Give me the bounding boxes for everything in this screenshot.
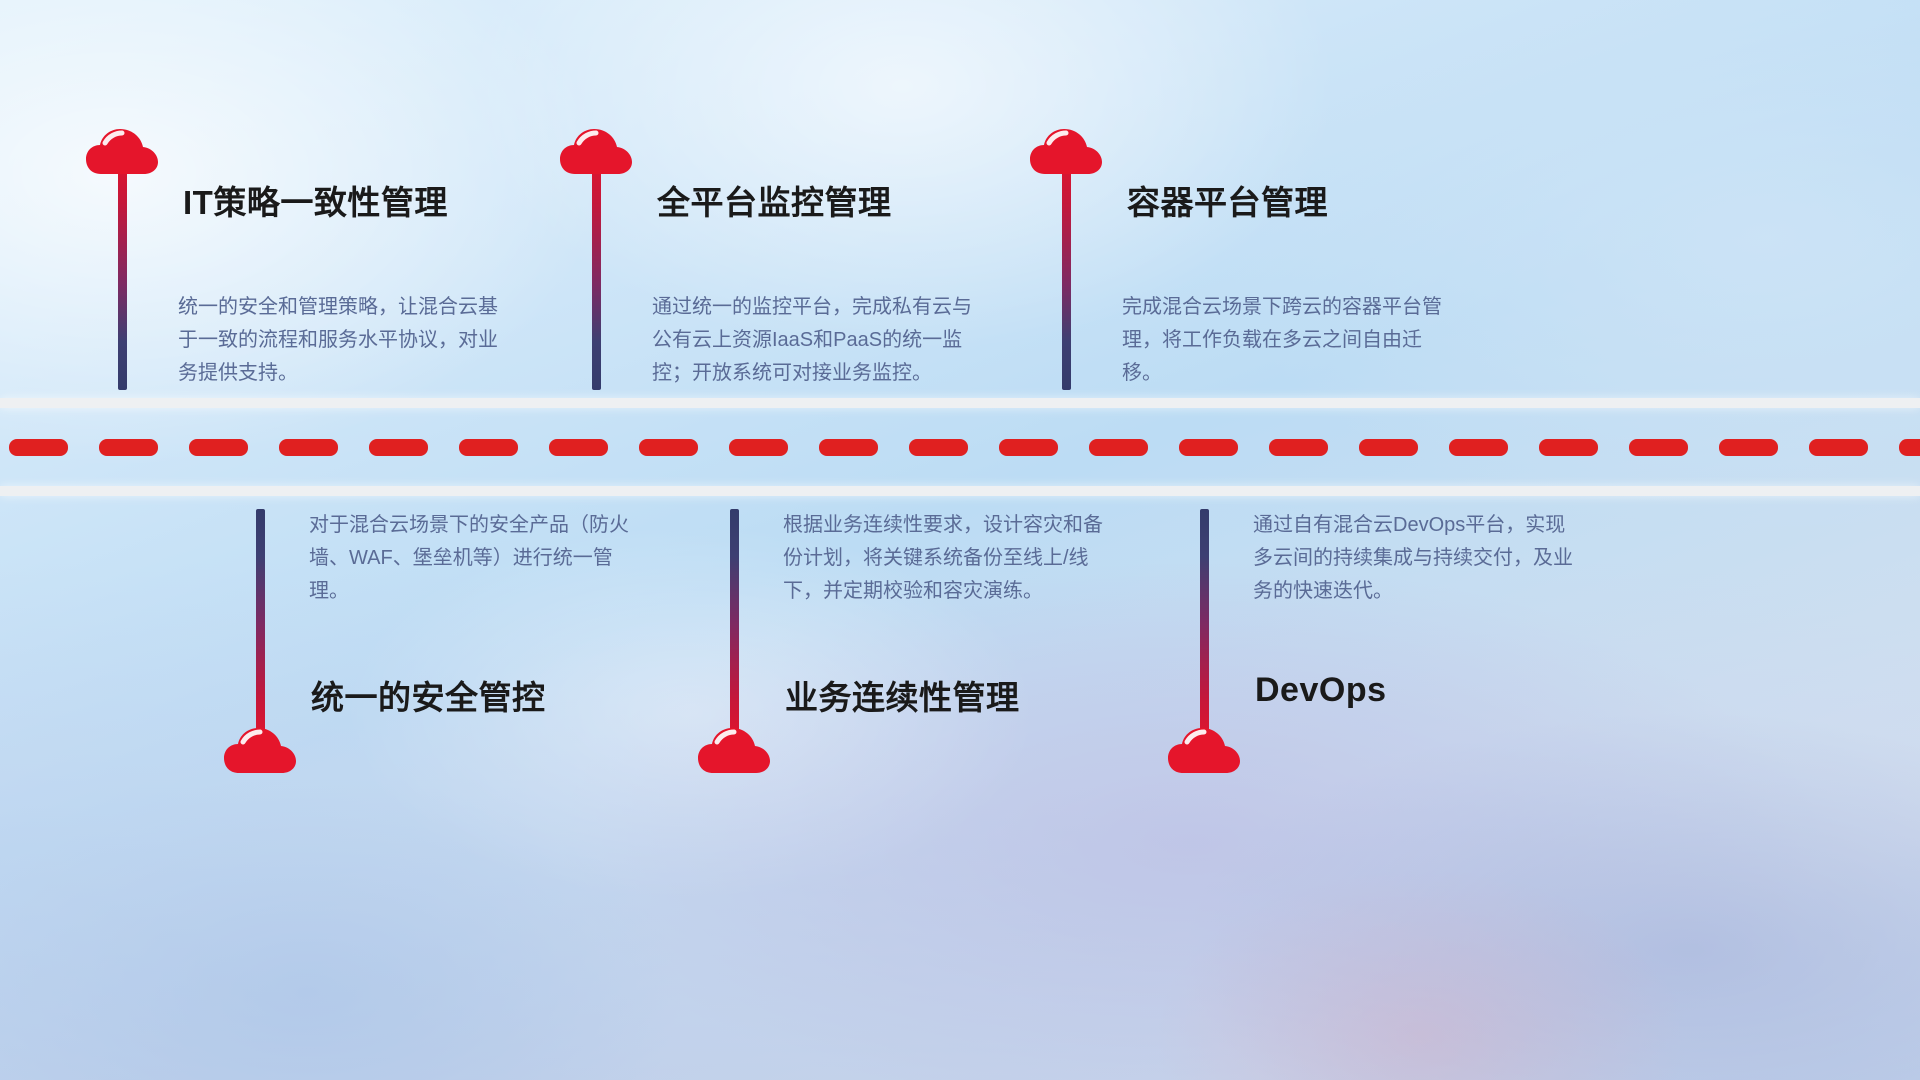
cloud-icon bbox=[697, 727, 771, 775]
road-dash-line bbox=[0, 438, 1920, 456]
road-dash bbox=[189, 439, 248, 456]
stem-connector bbox=[256, 509, 265, 746]
feature-description: 完成混合云场景下跨云的容器平台管理，将工作负载在多云之间自由迁移。 bbox=[1122, 291, 1452, 390]
road-dash bbox=[729, 439, 788, 456]
road-edge-bottom bbox=[0, 486, 1920, 496]
road-dash bbox=[279, 439, 338, 456]
cloud-icon bbox=[223, 727, 297, 775]
cloud-icon bbox=[85, 128, 159, 176]
road-dash bbox=[1089, 439, 1148, 456]
feature-title: DevOps bbox=[1255, 671, 1387, 710]
feature-description: 根据业务连续性要求，设计容灾和备份计划，将关键系统备份至线上/线下，并定期校验和… bbox=[783, 509, 1113, 608]
road-divider bbox=[0, 398, 1920, 496]
feature-title: 全平台监控管理 bbox=[657, 176, 892, 224]
feature-description: 通过自有混合云DevOps平台，实现多云间的持续集成与持续交付，及业务的快速迭代… bbox=[1253, 509, 1583, 608]
road-dash bbox=[1449, 439, 1508, 456]
road-dash bbox=[1719, 439, 1778, 456]
road-dash bbox=[909, 439, 968, 456]
feature-description: 统一的安全和管理策略，让混合云基于一致的流程和服务水平协议，对业务提供支持。 bbox=[178, 291, 508, 390]
road-dash bbox=[549, 439, 608, 456]
cloud-icon bbox=[559, 128, 633, 176]
stem-connector bbox=[592, 150, 601, 390]
road-dash bbox=[1809, 439, 1868, 456]
road-dash bbox=[99, 439, 158, 456]
road-edge-top bbox=[0, 398, 1920, 408]
road-dash bbox=[1899, 439, 1920, 456]
feature-title: 业务连续性管理 bbox=[785, 671, 1020, 719]
feature-title: 统一的安全管控 bbox=[311, 671, 546, 719]
road-dash bbox=[819, 439, 878, 456]
road-dash bbox=[459, 439, 518, 456]
road-dash bbox=[1539, 439, 1598, 456]
road-dash bbox=[639, 439, 698, 456]
feature-title: 容器平台管理 bbox=[1127, 176, 1328, 224]
road-dash bbox=[1359, 439, 1418, 456]
feature-description: 对于混合云场景下的安全产品（防火墙、WAF、堡垒机等）进行统一管理。 bbox=[309, 509, 639, 608]
road-dash bbox=[999, 439, 1058, 456]
stem-connector bbox=[118, 150, 127, 390]
feature-title: IT策略一致性管理 bbox=[183, 176, 448, 224]
cloud-icon bbox=[1167, 727, 1241, 775]
cloud-icon bbox=[1029, 128, 1103, 176]
road-dash bbox=[1179, 439, 1238, 456]
road-dash bbox=[1629, 439, 1688, 456]
road-dash bbox=[369, 439, 428, 456]
stem-connector bbox=[1200, 509, 1209, 746]
feature-description: 通过统一的监控平台，完成私有云与公有云上资源IaaS和PaaS的统一监控；开放系… bbox=[652, 291, 982, 390]
road-dash bbox=[1269, 439, 1328, 456]
road-dash bbox=[9, 439, 68, 456]
stem-connector bbox=[1062, 150, 1071, 390]
stem-connector bbox=[730, 509, 739, 746]
